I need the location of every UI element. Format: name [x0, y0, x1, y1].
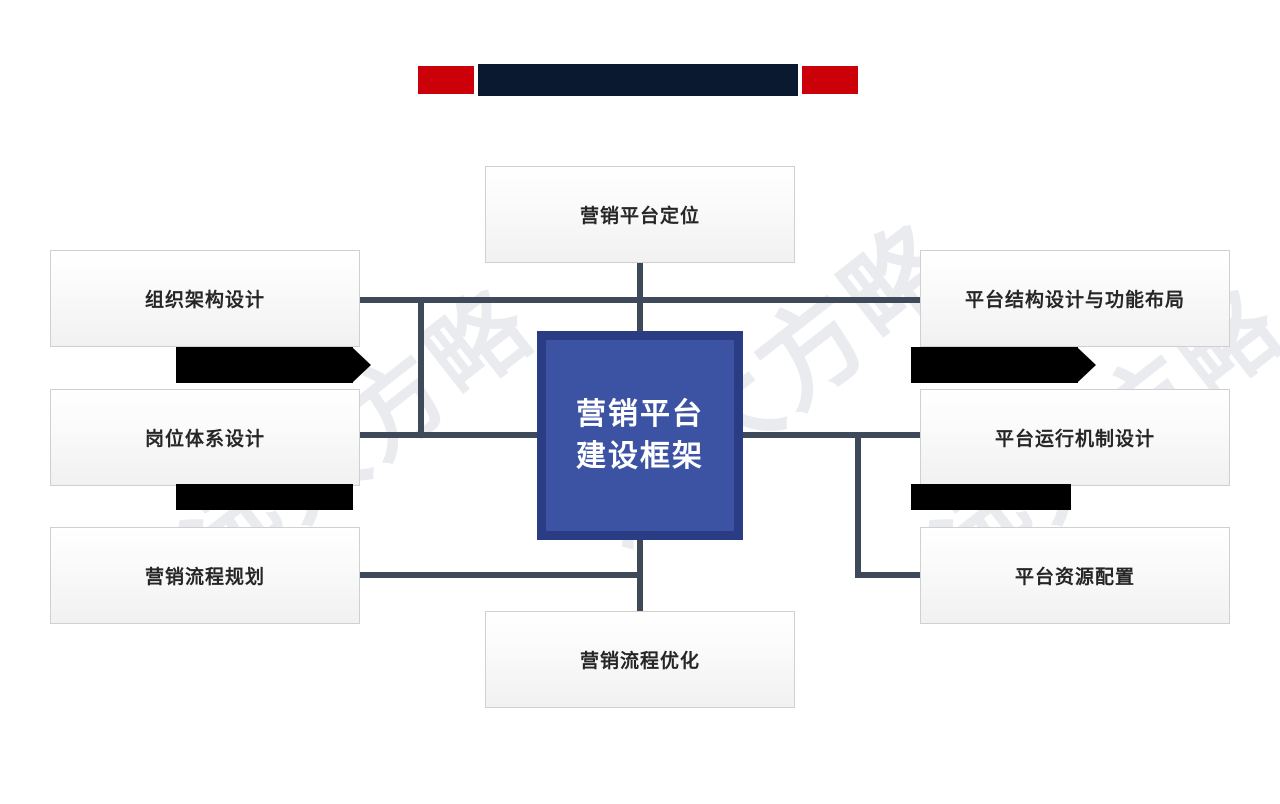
title-accent-left [418, 66, 474, 94]
connector-left-upper-stem [418, 297, 424, 438]
node-right-1-label: 平台结构设计与功能布局 [965, 285, 1185, 312]
node-right-3[interactable]: 平台资源配置 [920, 527, 1230, 624]
node-right-1[interactable]: 平台结构设计与功能布局 [920, 250, 1230, 347]
node-right-2[interactable]: 平台运行机制设计 [920, 389, 1230, 486]
node-left-1-label: 组织架构设计 [145, 285, 265, 312]
connector-lower-right-horizontal [855, 572, 921, 578]
title-accent-right [802, 66, 858, 94]
node-left-2-label: 岗位体系设计 [145, 424, 265, 451]
diagram-canvas: 远大方略 远大方略 远大方略 营销平台建设框架 营销平台定位 组织架构设计 岗位… [0, 0, 1280, 804]
redaction-bar-right-upper [911, 347, 1078, 383]
connector-mid-right-horizontal [739, 432, 921, 438]
redaction-bar-left-upper [176, 347, 353, 383]
connector-upper-horizontal [359, 297, 921, 303]
title-text-redacted: 营销平台建设框架 [478, 64, 798, 96]
redaction-bar-left-lower [176, 484, 353, 510]
center-node[interactable]: 营销平台 建设框架 [537, 331, 743, 540]
node-left-3-label: 营销流程规划 [145, 562, 265, 589]
center-node-line2: 建设框架 [576, 436, 704, 477]
connector-right-lower-stem [855, 432, 861, 578]
page-title: 营销平台建设框架 [418, 64, 858, 96]
redaction-arrow-left-upper [353, 348, 371, 382]
center-node-inner: 营销平台 建设框架 [546, 340, 734, 531]
redaction-bar-right-lower [911, 484, 1071, 510]
connector-mid-left-horizontal [359, 432, 541, 438]
node-right-2-label: 平台运行机制设计 [995, 424, 1155, 451]
node-top[interactable]: 营销平台定位 [485, 166, 795, 263]
connector-lower-left-horizontal [359, 572, 642, 578]
node-left-2[interactable]: 岗位体系设计 [50, 389, 360, 486]
node-bottom-label: 营销流程优化 [580, 646, 700, 673]
redaction-arrow-right-upper [1078, 348, 1096, 382]
node-bottom[interactable]: 营销流程优化 [485, 611, 795, 708]
node-top-label: 营销平台定位 [580, 201, 700, 228]
node-left-1[interactable]: 组织架构设计 [50, 250, 360, 347]
center-node-line1: 营销平台 [576, 394, 704, 435]
node-left-3[interactable]: 营销流程规划 [50, 527, 360, 624]
node-right-3-label: 平台资源配置 [1015, 562, 1135, 589]
